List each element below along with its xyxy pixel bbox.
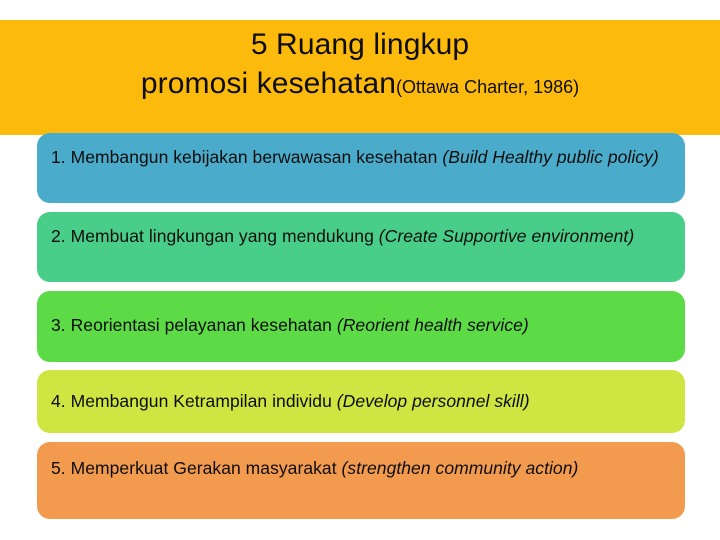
scope-items-list: 1. Membangun kebijakan berwawasan keseha…	[0, 0, 720, 540]
scope-item-2-label: Membuat lingkungan yang mendukung	[66, 226, 379, 246]
scope-item-3-translation: (Reorient health service)	[337, 315, 529, 335]
scope-item-5-label: Memperkuat Gerakan masyarakat	[66, 458, 342, 478]
scope-item-1: 1. Membangun kebijakan berwawasan keseha…	[37, 133, 685, 203]
scope-item-3-number: 3.	[51, 315, 66, 335]
scope-item-1-number: 1.	[51, 147, 66, 167]
scope-item-4-translation: (Develop personnel skill)	[337, 391, 530, 411]
scope-item-2-translation: (Create Supportive environment)	[379, 226, 634, 246]
scope-item-4: 4. Membangun Ketrampilan individu (Devel…	[37, 370, 685, 433]
scope-item-5-translation: (strengthen community action)	[342, 458, 579, 478]
scope-item-5: 5. Memperkuat Gerakan masyarakat (streng…	[37, 442, 685, 519]
scope-item-4-number: 4.	[51, 391, 66, 411]
scope-item-3-label: Reorientasi pelayanan kesehatan	[66, 315, 337, 335]
scope-item-1-label: Membangun kebijakan berwawasan kesehatan	[66, 147, 443, 167]
scope-item-4-label: Membangun Ketrampilan individu	[66, 391, 337, 411]
scope-item-2-number: 2.	[51, 226, 66, 246]
scope-item-1-translation: (Build Healthy public policy)	[442, 147, 658, 167]
scope-item-3: 3. Reorientasi pelayanan kesehatan (Reor…	[37, 291, 685, 362]
scope-item-2: 2. Membuat lingkungan yang mendukung (Cr…	[37, 212, 685, 282]
scope-item-5-number: 5.	[51, 458, 66, 478]
